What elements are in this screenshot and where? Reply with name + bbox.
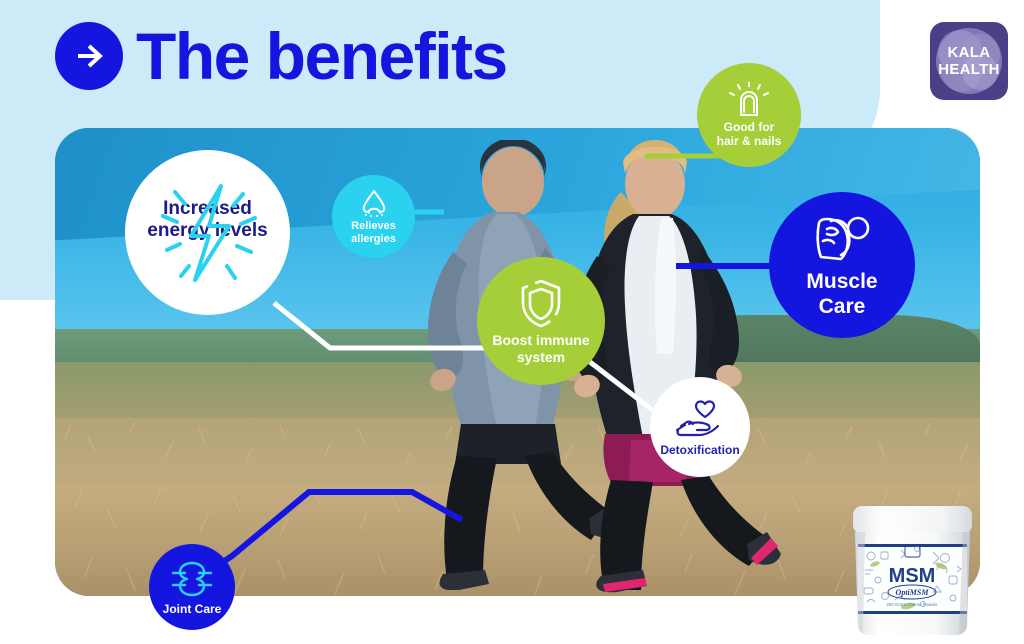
benefit-label-joint: Joint Care bbox=[163, 602, 222, 616]
logo-line-1: KALA bbox=[938, 44, 1000, 61]
benefit-label-allergies: Relieves allergies bbox=[351, 220, 396, 246]
product-jar[interactable]: MSM OptiMSM 250 Gram Coarse Powder bbox=[845, 500, 980, 644]
logo-line-2: HEALTH bbox=[938, 61, 1000, 78]
benefit-bubble-immune[interactable]: Boost immune system bbox=[477, 257, 605, 385]
benefit-label-hair-nails: Good for hair & nails bbox=[717, 120, 782, 148]
product-name: MSM bbox=[889, 565, 936, 587]
benefit-label-muscle-line1: Muscle bbox=[806, 269, 877, 294]
shield-icon bbox=[517, 277, 565, 329]
hand-holding-heart-icon bbox=[675, 398, 725, 440]
benefit-label-immune-line1: Boost immune bbox=[492, 332, 589, 349]
benefit-bubble-energy[interactable]: Increased energy levels bbox=[125, 150, 290, 315]
benefit-label-detox-line1: Detoxification bbox=[660, 443, 739, 457]
page-title: The benefits bbox=[136, 14, 507, 98]
benefit-label-muscle: Muscle Care bbox=[806, 269, 877, 319]
benefit-label-hair-nails-line1: Good for bbox=[717, 120, 782, 134]
benefit-label-allergies-line1: Relieves bbox=[351, 220, 396, 233]
flexed-bicep-icon bbox=[811, 211, 873, 265]
header: The benefits bbox=[0, 0, 1024, 120]
product-subtitle: 250 Gram Coarse Powder bbox=[886, 602, 938, 607]
benefit-label-immune-line2: system bbox=[492, 349, 589, 366]
joint-bone-icon bbox=[169, 559, 215, 599]
benefit-bubble-allergies[interactable]: Relieves allergies bbox=[332, 175, 415, 258]
benefit-label-muscle-line2: Care bbox=[806, 294, 877, 319]
benefit-label-immune: Boost immune system bbox=[492, 332, 589, 366]
nose-icon bbox=[356, 188, 392, 218]
benefit-label-joint-line1: Joint Care bbox=[163, 602, 222, 616]
lightning-bolt-icon bbox=[125, 150, 290, 315]
kala-health-logo[interactable]: KALA HEALTH bbox=[930, 22, 1008, 100]
slide-canvas: The benefits KALA HEALTH bbox=[0, 0, 1024, 644]
arrow-right-circle-icon bbox=[55, 22, 123, 90]
benefit-bubble-muscle[interactable]: Muscle Care bbox=[769, 192, 915, 338]
benefit-label-allergies-line2: allergies bbox=[351, 233, 396, 246]
benefit-label-detox: Detoxification bbox=[660, 443, 739, 457]
product-badge: OptiMSM bbox=[896, 588, 930, 597]
benefit-label-hair-nails-line2: hair & nails bbox=[717, 134, 782, 148]
benefit-bubble-joint[interactable]: Joint Care bbox=[149, 544, 235, 630]
logo-text: KALA HEALTH bbox=[938, 44, 1000, 78]
benefit-bubble-detox[interactable]: Detoxification bbox=[650, 377, 750, 477]
